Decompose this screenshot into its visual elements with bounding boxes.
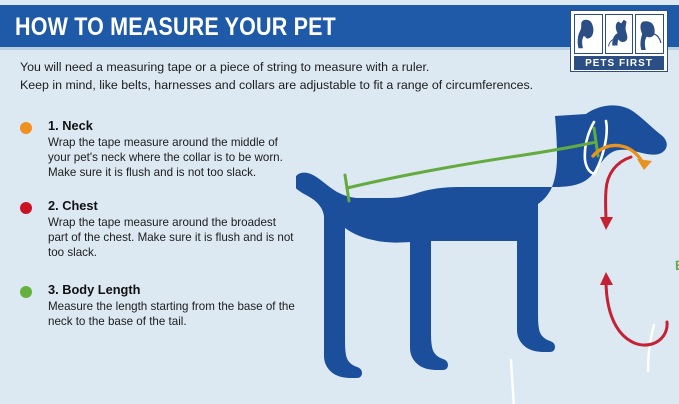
bullet-body-length-icon xyxy=(20,286,32,298)
dog-sitting-silhouette-icon xyxy=(574,14,603,54)
intro-text: You will need a measuring tape or a piec… xyxy=(20,58,580,94)
logo-wordmark: PETS FIRST xyxy=(574,56,664,70)
logo-panel-group xyxy=(574,14,664,54)
intro-line-2: Keep in mind, like belts, harnesses and … xyxy=(20,76,580,94)
page-title: HOW TO MEASURE YOUR PET xyxy=(15,14,336,40)
infographic-root: HOW TO MEASURE YOUR PET xyxy=(0,0,679,404)
dog-begging-silhouette-icon xyxy=(605,14,634,54)
measurement-steps-list: 1. Neck Wrap the tape measure around the… xyxy=(18,118,298,347)
list-item-neck: 1. Neck Wrap the tape measure around the… xyxy=(18,118,298,180)
step-body-neck: Wrap the tape measure around the middle … xyxy=(48,135,298,180)
step-title-body-length: 3. Body Length xyxy=(48,282,298,298)
step-body-body-length: Measure the length starting from the bas… xyxy=(48,299,298,329)
label-body-length: BODY LENGTH xyxy=(675,255,679,273)
dog-standing-silhouette-icon xyxy=(635,14,664,54)
intro-line-1: You will need a measuring tape or a piec… xyxy=(20,58,580,76)
step-title-chest: 2. Chest xyxy=(48,198,298,214)
dog-front-leg-separation xyxy=(648,325,654,371)
bullet-chest-icon xyxy=(20,202,32,214)
bullet-neck-icon xyxy=(20,122,32,134)
list-item-chest: 2. Chest Wrap the tape measure around th… xyxy=(18,198,298,260)
chest-measure-loop xyxy=(600,157,667,345)
dog-measurement-illustration: BODY LENGTH NECK CHEST xyxy=(296,100,679,404)
list-item-body-length: 3. Body Length Measure the length starti… xyxy=(18,282,298,329)
step-title-neck: 1. Neck xyxy=(48,118,298,134)
brand-logo: PETS FIRST xyxy=(570,10,668,72)
step-body-chest: Wrap the tape measure around the broades… xyxy=(48,215,298,260)
dog-rear-leg-separation xyxy=(511,360,514,404)
